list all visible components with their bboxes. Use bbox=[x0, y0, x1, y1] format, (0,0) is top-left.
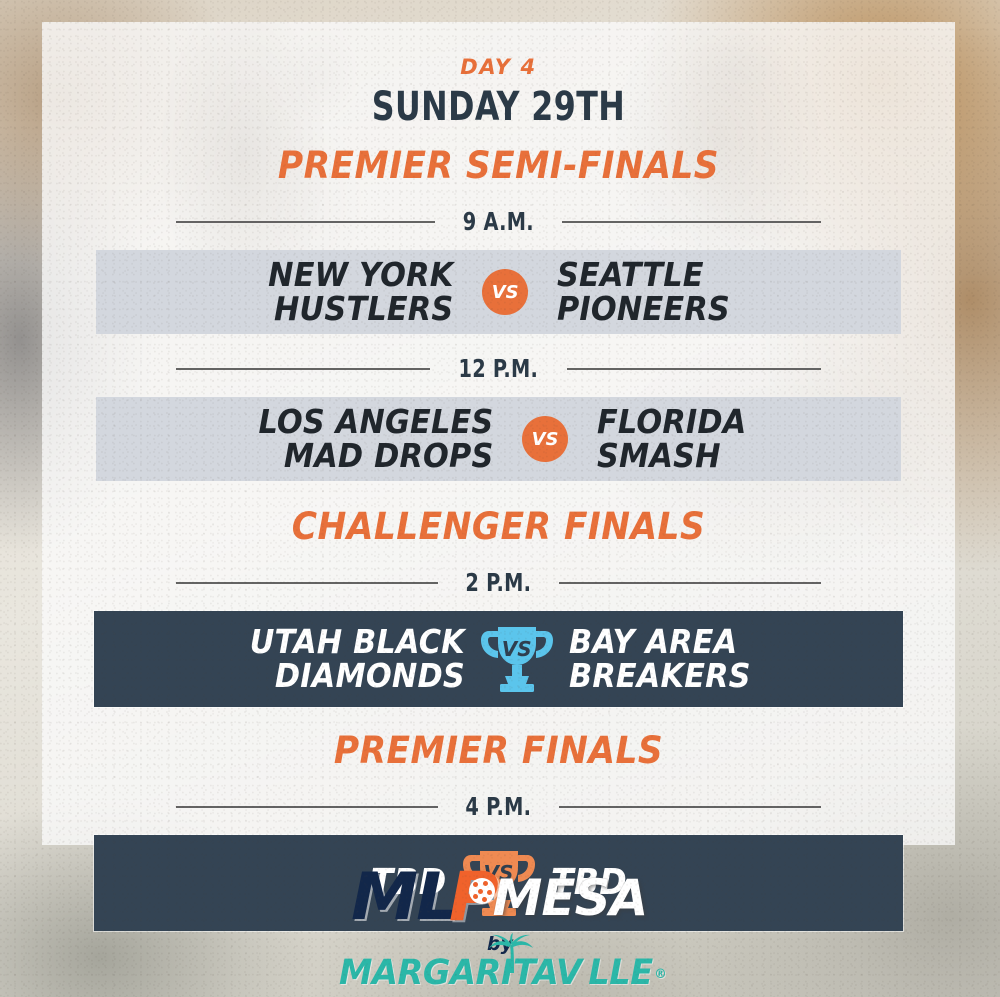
divider-line-left bbox=[176, 221, 435, 223]
match-row[interactable]: LOS ANGELES MAD DROPS VS FLORIDA SMASH bbox=[96, 397, 901, 481]
margaritaville-logo: MARGARITAVLLE® bbox=[334, 953, 666, 993]
time-divider: 4 P.M. bbox=[42, 792, 955, 821]
schedule-card: DAY 4 SUNDAY 29TH PREMIER SEMI-FINALS 9 … bbox=[42, 22, 955, 845]
team-left: LOS ANGELES MAD DROPS bbox=[258, 405, 493, 472]
match-row[interactable]: NEW YORK HUSTLERS VS SEATTLE PIONEERS bbox=[96, 250, 901, 334]
vs-circle-badge-icon: VS bbox=[522, 416, 568, 462]
vs-slot: VS bbox=[453, 269, 557, 315]
registered-mark: ® bbox=[654, 967, 666, 982]
team-left: UTAH BLACK DIAMONDS bbox=[249, 625, 464, 692]
team-right: FLORIDA SMASH bbox=[597, 405, 746, 472]
match-time: 4 P.M. bbox=[466, 792, 532, 821]
palm-tree-icon bbox=[486, 933, 536, 977]
margaritaville-text-a: MARGARITAV bbox=[339, 953, 582, 993]
logo-p-wrap: P bbox=[449, 858, 497, 937]
logo-ml-text: ML bbox=[351, 860, 457, 935]
match-time: 2 P.M. bbox=[466, 568, 532, 597]
round-title-premier-finals: PREMIER FINALS bbox=[74, 729, 923, 772]
round-title-challenger-finals: CHALLENGER FINALS bbox=[74, 505, 923, 548]
logo-mesa-text: MESA bbox=[493, 869, 648, 927]
match-time: 12 P.M. bbox=[459, 354, 539, 383]
vs-label: VS bbox=[476, 637, 558, 661]
vs-slot: VS bbox=[493, 416, 597, 462]
page-title: SUNDAY 29TH bbox=[97, 84, 900, 130]
team-right: BAY AREA BREAKERS bbox=[569, 625, 751, 692]
time-divider: 9 A.M. bbox=[42, 207, 955, 236]
divider-line-left bbox=[176, 806, 438, 808]
vs-circle-badge-icon: VS bbox=[482, 269, 528, 315]
time-divider: 2 P.M. bbox=[42, 568, 955, 597]
poster-background: DAY 4 SUNDAY 29TH PREMIER SEMI-FINALS 9 … bbox=[0, 0, 1000, 997]
team-right-line2: PIONEERS bbox=[557, 292, 730, 326]
match-time: 9 A.M. bbox=[463, 207, 534, 236]
team-left-line2: MAD DROPS bbox=[258, 439, 493, 473]
round-title-premier-semi-finals: PREMIER SEMI-FINALS bbox=[74, 144, 923, 187]
divider-line-right bbox=[562, 221, 821, 223]
team-right-line2: BREAKERS bbox=[569, 659, 751, 693]
divider-line-left bbox=[176, 368, 430, 370]
margaritaville-text-b: LLE bbox=[588, 953, 652, 993]
mlp-mesa-logo: ML P MESA bbox=[353, 858, 648, 937]
team-left: NEW YORK HUSTLERS bbox=[268, 258, 453, 325]
divider-line-right bbox=[559, 582, 821, 584]
team-left-line2: DIAMONDS bbox=[249, 659, 464, 693]
match-row[interactable]: UTAH BLACK DIAMONDS VS bbox=[94, 611, 903, 707]
team-left-line2: HUSTLERS bbox=[268, 292, 453, 326]
pickleball-icon bbox=[469, 878, 495, 904]
team-right: SEATTLE PIONEERS bbox=[557, 258, 730, 325]
team-right-line2: SMASH bbox=[597, 439, 746, 473]
vs-slot: VS bbox=[465, 621, 569, 697]
time-divider: 12 P.M. bbox=[42, 354, 955, 383]
divider-line-left bbox=[176, 582, 438, 584]
day-label: DAY 4 bbox=[42, 22, 955, 79]
trophy-icon-blue: VS bbox=[476, 621, 558, 697]
footer-logo: ML P MESA by MARGARITAVLLE® bbox=[0, 858, 1000, 993]
divider-line-right bbox=[559, 806, 821, 808]
divider-line-right bbox=[567, 368, 821, 370]
